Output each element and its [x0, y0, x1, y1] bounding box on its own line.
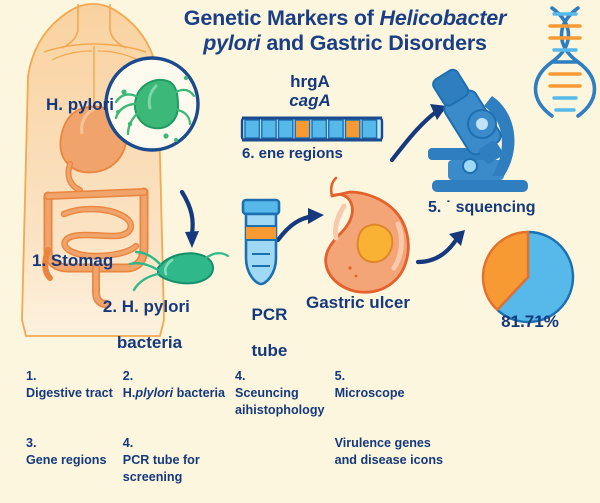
legend-text-italic: plylori: [135, 386, 173, 400]
legend-text: Virulence genes and disease icons: [335, 436, 444, 467]
legend-num: 1.: [26, 369, 37, 383]
gene-segment: [279, 120, 293, 138]
title-line2-italic: pylori: [203, 31, 260, 55]
arrow-torso-to-pcr: [182, 192, 199, 248]
page-title: Genetic Markers of Helicobacter pylori a…: [150, 6, 540, 56]
gene-hrga-label: hrgA: [290, 72, 330, 91]
stomach-step-label: 1. Stomag: [32, 252, 113, 270]
gene-regions-label: 6. ene regions: [242, 146, 343, 162]
legend-col3: 4. Sceuncing aihistophology: [235, 334, 335, 503]
legend-item: 1. Digestive tract: [26, 351, 113, 402]
legend-text: PCR tube for screening: [123, 453, 200, 484]
legend-item: 3. Gene regions: [26, 418, 113, 469]
legend-item: Virulence genes and disease icons: [335, 418, 444, 469]
title-line2-suffix: and Gastric Disorders: [261, 31, 487, 55]
bacteria-step-line1: 2. H. pylori: [103, 297, 190, 316]
arrow-stomach-to-pie: [418, 230, 465, 262]
pie-chart-icon: [483, 232, 573, 322]
pie-percentage-label: 81.71%: [480, 312, 580, 332]
legend-text-post: bacteria: [173, 386, 225, 400]
gene-segment: [362, 120, 376, 138]
infographic-canvas: Genetic Markers of Helicobacter pylori a…: [0, 0, 600, 400]
dna-helix-icon: [536, 8, 595, 116]
legend-item: 4. Sceuncing aihistophology: [235, 351, 325, 419]
pcr-label-line1: PCR: [252, 305, 288, 324]
title-line1-prefix: Genetic Markers of: [184, 6, 380, 30]
legend-text-pre: H.: [123, 386, 136, 400]
title-line1-italic: Helicobacter: [380, 6, 507, 30]
gene-caga-label: cagA: [289, 91, 331, 110]
sequencing-label: 5. ˙ squencing: [428, 200, 536, 217]
gene-segment: [346, 120, 360, 138]
legend-text: Gene regions: [26, 453, 106, 467]
legend-num: 4.: [235, 368, 246, 385]
legend-col2: 2. H.plylori bacteria 4. PCR tube for sc…: [123, 334, 235, 503]
gastric-ulcer-label: Gastric ulcer: [306, 294, 410, 312]
legend: 1. Digestive tract 3. Gene regions 2. H.…: [26, 334, 586, 503]
h-pylori-circle-label: H. pylori: [46, 96, 114, 114]
legend-item: 4. PCR tube for screening: [123, 418, 225, 486]
legend-num: 2.: [123, 369, 134, 383]
gene-segment: [262, 120, 276, 138]
legend-text: Sceuncing aihistophology: [235, 386, 325, 417]
pcr-tube-icon: [243, 200, 279, 284]
legend-item: 5. Microscope: [335, 351, 444, 402]
h-pylori-magnifier-circle: [106, 58, 198, 150]
legend-text: Digestive tract: [26, 386, 113, 400]
gene-region-bar: [242, 118, 382, 140]
microscope-icon: [427, 65, 528, 192]
gene-segment: [312, 120, 326, 138]
legend-item: 2. H.plylori bacteria: [123, 351, 225, 402]
legend-num: 4.: [123, 435, 134, 452]
legend-num: 3.: [26, 436, 37, 450]
legend-num: 5.: [335, 369, 346, 383]
gene-names: hrgA cagA: [250, 72, 370, 110]
legend-col1: 1. Digestive tract 3. Gene regions: [26, 334, 123, 503]
gene-segment: [295, 120, 309, 138]
gene-segment: [329, 120, 343, 138]
legend-text: Microscope: [335, 386, 405, 400]
arrow-pcr-to-stomach: [278, 208, 324, 240]
legend-col4: 5. Microscope Virulence genes and diseas…: [335, 334, 454, 503]
stomach-ulcer-icon: [326, 178, 409, 292]
gene-segment: [245, 120, 259, 138]
